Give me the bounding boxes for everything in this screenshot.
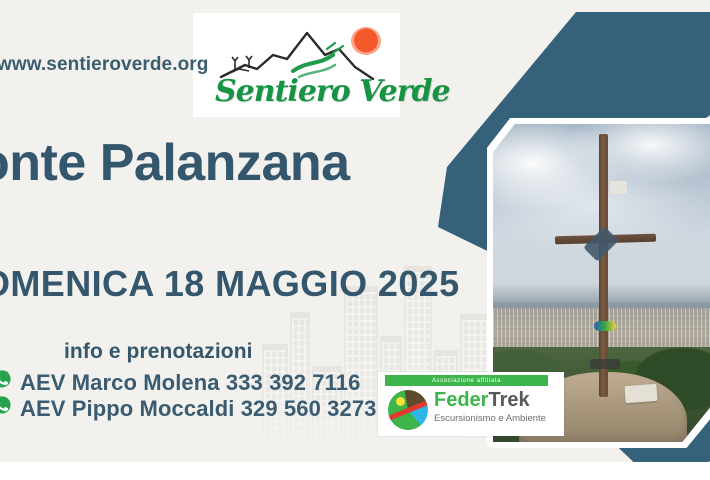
sv-word-text: Sentiero Verde [215, 74, 450, 109]
sentiero-verde-logo: Sentiero Verde [193, 13, 400, 117]
federtrek-logo: Associazione affiliata FederTrek Escursi… [378, 372, 564, 436]
federtrek-tagline: Escursionismo e Ambiente [434, 413, 558, 424]
page-title: onte Palanzana [0, 137, 350, 189]
sun-icon [351, 27, 381, 55]
federtrek-name: FederTrek [434, 390, 558, 410]
whatsapp-icon-2 [0, 394, 13, 416]
federtrek-name-part-1: Feder [434, 389, 488, 411]
federtrek-circle-mark-icon [388, 390, 428, 430]
bottom-white-strip [0, 462, 710, 480]
whatsapp-icon [0, 368, 13, 390]
contact-line-2[interactable]: AEV Pippo Moccaldi 329 560 3273 [20, 396, 377, 422]
photo-cross-vertical [599, 134, 608, 398]
website-url[interactable]: www.sentieroverde.org [0, 54, 209, 76]
info-heading: info e prenotazioni [64, 340, 253, 364]
sentiero-verde-logo-inner: Sentiero Verde [215, 25, 383, 107]
event-poster: Sentiero Verde Associazione affiliata Fe… [0, 0, 710, 480]
federtrek-affiliation-ribbon: Associazione affiliata [385, 375, 548, 386]
sentiero-verde-wordmark: Sentiero Verde [215, 74, 383, 109]
federtrek-affiliation-text: Associazione affiliata [432, 378, 501, 384]
contact-line-1[interactable]: AEV Marco Molena 333 392 7116 [20, 370, 360, 396]
photo-colored-ribbons [594, 321, 616, 331]
photo-small-sign [610, 181, 627, 194]
federtrek-text-block: FederTrek Escursionismo e Ambiente [434, 390, 558, 424]
photo-cross-base [590, 359, 620, 369]
federtrek-name-part-2: Trek [488, 389, 529, 411]
photo-stone-plaque [624, 384, 657, 403]
event-date: OMENICA 18 MAGGIO 2025 [0, 266, 460, 302]
